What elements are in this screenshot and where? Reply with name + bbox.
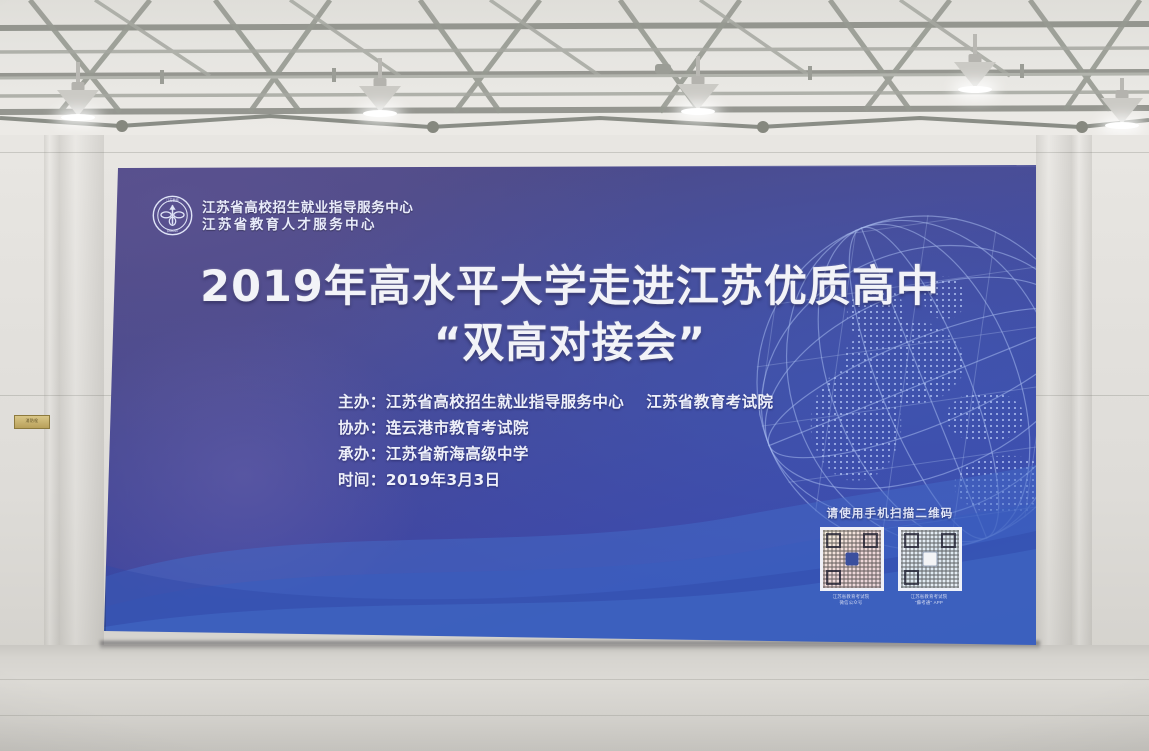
wall-column	[1036, 120, 1072, 650]
svg-text:JIANGSU: JIANGSU	[166, 229, 178, 233]
organization-logo-row: 江苏教育 JIANGSU 江苏省高校招生就业指导服务中心 江苏省教育人才服务中心	[152, 195, 414, 236]
wall-plaque: 消防栓	[14, 415, 50, 429]
org-name-line1: 江苏省高校招生就业指导服务中心	[202, 200, 414, 215]
detail-value-organizer: 江苏省新海高级中学	[386, 445, 529, 463]
event-banner: 江苏教育 JIANGSU 江苏省高校招生就业指导服务中心 江苏省教育人才服务中心…	[104, 165, 1036, 647]
qr-code-left-caption: 江苏省教育考试院 微信公众号	[820, 594, 882, 606]
banner-detail-lines: 主办：江苏省高校招生就业指导服务中心江苏省教育考试院 协办：连云港市教育考试院 …	[338, 393, 773, 490]
detail-value-cohost: 连云港市教育考试院	[386, 419, 529, 437]
detail-value-date: 2019年3月3日	[386, 471, 501, 489]
qr-code-right[interactable]: 江苏省教育考试院 “蘇考通” APP	[898, 527, 960, 606]
org-name-line2: 江苏省教育人才服务中心	[202, 217, 414, 232]
detail-row-organizer: 承办：江苏省新海高级中学	[338, 445, 773, 464]
qr-code-block: 请使用手机扫描二维码 江苏省教育考试院 微信公众号	[804, 505, 976, 606]
wall-column	[44, 120, 60, 650]
wall-seam	[0, 152, 1149, 153]
qr-code-left-image[interactable]	[820, 527, 884, 591]
wall-column	[60, 120, 104, 650]
detail-value-host: 江苏省高校招生就业指导服务中心	[386, 393, 625, 411]
qr-block-title: 请使用手机扫描二维码	[804, 505, 976, 521]
detail-row-host: 主办：江苏省高校招生就业指导服务中心江苏省教育考试院	[338, 393, 773, 412]
detail-row-date: 时间：2019年3月3日	[338, 471, 773, 490]
detail-label-date: 时间：	[338, 471, 386, 489]
detail-value-host-2: 江苏省教育考试院	[646, 393, 773, 411]
qr-code-right-image[interactable]	[898, 527, 962, 591]
ceiling-truss	[0, 0, 1149, 135]
qr-code-left[interactable]: 江苏省教育考试院 微信公众号	[820, 527, 882, 606]
banner-title-main: 2019年高水平大学走进江苏优质高中	[104, 261, 1036, 313]
detail-label-organizer: 承办：	[338, 445, 386, 463]
detail-row-cohost: 协办：连云港市教育考试院	[338, 419, 773, 438]
detail-label-host: 主办：	[338, 393, 386, 411]
svg-text:江苏教育: 江苏教育	[166, 197, 179, 202]
floor	[0, 645, 1149, 751]
qr-code-right-caption: 江苏省教育考试院 “蘇考通” APP	[898, 594, 960, 606]
wall-column	[1072, 120, 1092, 650]
wall-plaque-label: 消防栓	[15, 416, 49, 426]
detail-label-cohost: 协办：	[338, 419, 386, 437]
screenshot-root: 消防栓	[0, 0, 1149, 751]
jiangsu-education-emblem-icon: 江苏教育 JIANGSU	[152, 195, 193, 236]
banner-title-sub: “双高对接会”	[104, 317, 1036, 369]
